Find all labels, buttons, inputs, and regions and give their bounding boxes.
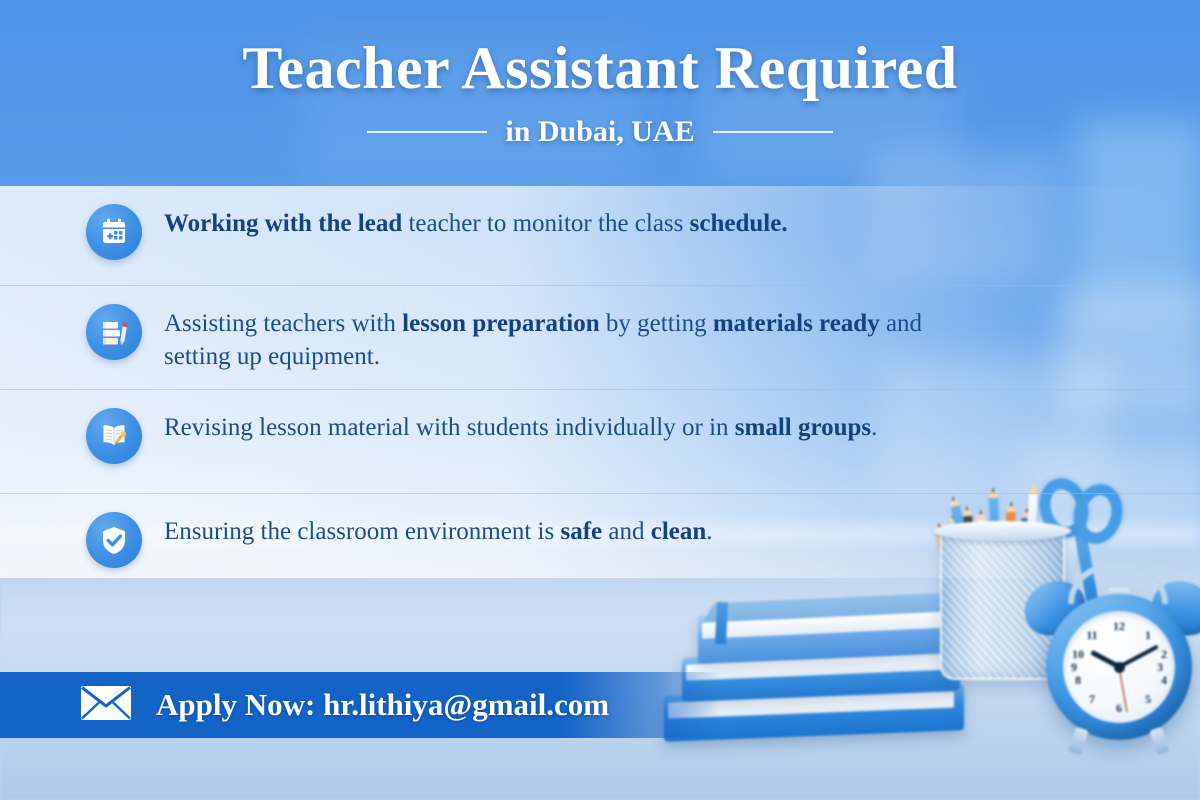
shield-check-icon (86, 512, 142, 568)
book-ribbon-bookmark (715, 602, 728, 645)
subtitle-rule-left (367, 131, 487, 133)
subtitle-rule-right (713, 131, 833, 133)
clock-dial: 12 1 2 3 4 5 6 7 8 9 10 11 (1063, 611, 1175, 723)
apply-footer-bar[interactable]: Apply Now: hr.lithiya@gmail.com (0, 672, 720, 738)
clock-numeral: 3 (1153, 661, 1167, 673)
clock-numeral: 1 (1141, 629, 1155, 641)
poster-header: Teacher Assistant Required in Dubai, UAE (0, 0, 1200, 180)
list-item-text: Revising lesson material with students i… (164, 406, 877, 445)
clock-numeral: 4 (1157, 674, 1171, 686)
list-item: Working with the lead teacher to monitor… (0, 186, 1200, 286)
subtitle-row: in Dubai, UAE (0, 115, 1200, 149)
clock-numeral: 5 (1141, 693, 1155, 705)
page-title: Teacher Assistant Required (0, 34, 1200, 103)
list-item: Assisting teachers with lesson preparati… (0, 286, 1200, 390)
clock-numeral: 11 (1085, 629, 1099, 641)
clock-numeral: 9 (1067, 661, 1081, 673)
clock-numeral: 8 (1071, 674, 1085, 686)
list-item: Ensuring the classroom environment is sa… (0, 494, 1200, 590)
list-item-text: Working with the lead teacher to monitor… (164, 202, 788, 241)
books-pencil-icon (86, 304, 142, 360)
apply-now-text: Apply Now: hr.lithiya@gmail.com (156, 687, 609, 723)
list-item-text: Ensuring the classroom environment is sa… (164, 510, 713, 549)
envelope-icon (80, 684, 132, 727)
clock-numeral: 7 (1085, 693, 1099, 705)
clock-center-pin (1114, 662, 1125, 673)
open-book-pen-icon (86, 408, 142, 464)
clock-numeral: 12 (1112, 620, 1126, 632)
page-subtitle: in Dubai, UAE (505, 115, 694, 149)
job-ad-poster: 12 1 2 3 4 5 6 7 8 9 10 11 (0, 0, 1200, 800)
calendar-plus-icon (86, 204, 142, 260)
clock-numeral: 10 (1071, 648, 1085, 660)
list-item: Revising lesson material with students i… (0, 390, 1200, 494)
list-item-text: Assisting teachers with lesson preparati… (164, 302, 924, 373)
clock-numeral: 2 (1157, 648, 1171, 660)
responsibilities-list: Working with the lead teacher to monitor… (0, 186, 1200, 590)
